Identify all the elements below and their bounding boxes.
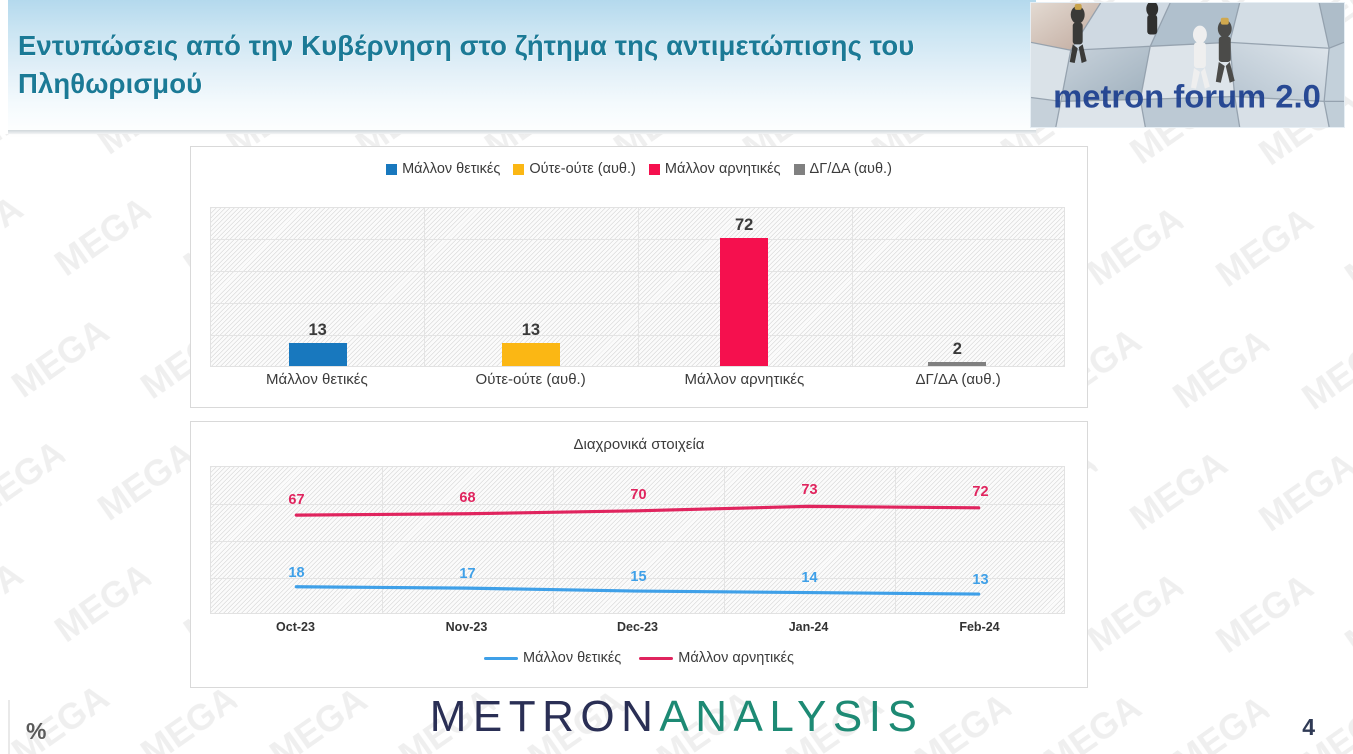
slide-canvas: Εντυπώσεις από την Κυβέρνηση στο ζήτημα … [0, 0, 1353, 754]
line-axis-label-oct: Oct-23 [210, 620, 381, 634]
line-chart-panel: Διαχρονικά στοιχεία 67 68 70 73 72 18 17 [190, 421, 1088, 688]
line-label-positive-feb: 13 [972, 572, 988, 588]
page-title: Εντυπώσεις από την Κυβέρνηση στο ζήτημα … [18, 27, 978, 103]
line-label-negative-feb: 72 [972, 484, 988, 500]
bar-category-label-positive: Μάλλον θετικές [210, 371, 424, 388]
legend-label-neutral: Ούτε-ούτε (αυθ.) [529, 161, 636, 177]
line-legend-label-positive: Μάλλον θετικές [523, 650, 621, 666]
legend-label-dontknow: ΔΓ/ΔΑ (αυθ.) [810, 161, 892, 177]
slide-header: Εντυπώσεις από την Κυβέρνηση στο ζήτημα … [8, 0, 1036, 130]
bar-value-neutral: 13 [522, 321, 540, 340]
legend-item-neutral: Ούτε-ούτε (αυθ.) [513, 161, 636, 177]
bar-dontknow[interactable] [928, 362, 986, 366]
bar-column-dontknow: 2 [851, 208, 1064, 366]
brand-analysis: ANALYSIS [659, 692, 923, 741]
bar-category-label-negative: Μάλλον αρνητικές [638, 371, 852, 388]
line-label-positive-oct: 18 [288, 565, 304, 581]
bar-column-neutral: 13 [424, 208, 637, 366]
bar-neutral[interactable] [502, 343, 560, 366]
bar-category-label-neutral: Ούτε-ούτε (αυθ.) [424, 371, 638, 388]
legend-swatch-dontknow [794, 164, 805, 175]
logo-text: metron forum 2.0 [1053, 77, 1321, 114]
line-label-positive-jan: 14 [801, 570, 817, 586]
line-axis-label-jan: Jan-24 [723, 620, 894, 634]
line-plot-area: 67 68 70 73 72 18 17 15 14 13 [210, 466, 1065, 614]
line-axis-label-feb: Feb-24 [894, 620, 1065, 634]
header-underline [8, 130, 1036, 134]
legend-swatch-negative [649, 164, 660, 175]
metron-forum-logo: metron forum 2.0 [1030, 2, 1345, 128]
legend-line-negative [639, 657, 673, 660]
line-chart-title: Διαχρονικά στοιχεία [191, 436, 1087, 453]
bar-column-negative: 72 [638, 208, 851, 366]
brand-metron: METRON [430, 692, 660, 741]
bar-column-positive: 13 [211, 208, 424, 366]
legend-swatch-neutral [513, 164, 524, 175]
bar-value-positive: 13 [308, 321, 326, 340]
bar-category-labels: Μάλλον θετικές Ούτε-ούτε (αυθ.) Μάλλον α… [210, 371, 1065, 388]
bar-value-negative: 72 [735, 216, 753, 235]
bar-chart-legend: Μάλλον θετικές Ούτε-ούτε (αυθ.) Μάλλον α… [191, 161, 1087, 177]
bar-value-dontknow: 2 [953, 340, 962, 359]
legend-line-positive [484, 657, 518, 660]
line-label-positive-dec: 15 [630, 569, 646, 585]
legend-item-positive: Μάλλον θετικές [386, 161, 500, 177]
page-number: 4 [1302, 714, 1315, 741]
line-label-negative-nov: 68 [459, 490, 475, 506]
line-label-negative-oct: 67 [288, 492, 304, 508]
header-left-margin [0, 0, 8, 134]
line-axis-label-nov: Nov-23 [381, 620, 552, 634]
line-legend-item-negative: Μάλλον αρνητικές [639, 650, 794, 666]
line-chart-legend: Μάλλον θετικές Μάλλον αρνητικές [191, 650, 1087, 666]
legend-label-negative: Μάλλον αρνητικές [665, 161, 781, 177]
line-series-negative [296, 506, 978, 515]
line-label-positive-nov: 17 [459, 566, 475, 582]
bar-category-label-dontknow: ΔΓ/ΔΑ (αυθ.) [851, 371, 1065, 388]
bar-plot-area: 13 13 72 2 [210, 207, 1065, 367]
line-legend-item-positive: Μάλλον θετικές [484, 650, 621, 666]
line-axis-label-dec: Dec-23 [552, 620, 723, 634]
bar-positive[interactable] [289, 343, 347, 366]
bar-chart-panel: Μάλλον θετικές Ούτε-ούτε (αυθ.) Μάλλον α… [190, 146, 1088, 408]
line-label-negative-dec: 70 [630, 487, 646, 503]
legend-swatch-positive [386, 164, 397, 175]
line-axis-labels: Oct-23 Nov-23 Dec-23 Jan-24 Feb-24 [210, 620, 1065, 634]
metron-analysis-logo: METRONANALYSIS [0, 692, 1353, 742]
line-label-negative-jan: 73 [801, 482, 817, 498]
bar-negative[interactable] [720, 238, 768, 366]
line-series-positive [296, 587, 978, 594]
legend-label-positive: Μάλλον θετικές [402, 161, 500, 177]
legend-item-dontknow: ΔΓ/ΔΑ (αυθ.) [794, 161, 892, 177]
line-legend-label-negative: Μάλλον αρνητικές [678, 650, 794, 666]
legend-item-negative: Μάλλον αρνητικές [649, 161, 781, 177]
